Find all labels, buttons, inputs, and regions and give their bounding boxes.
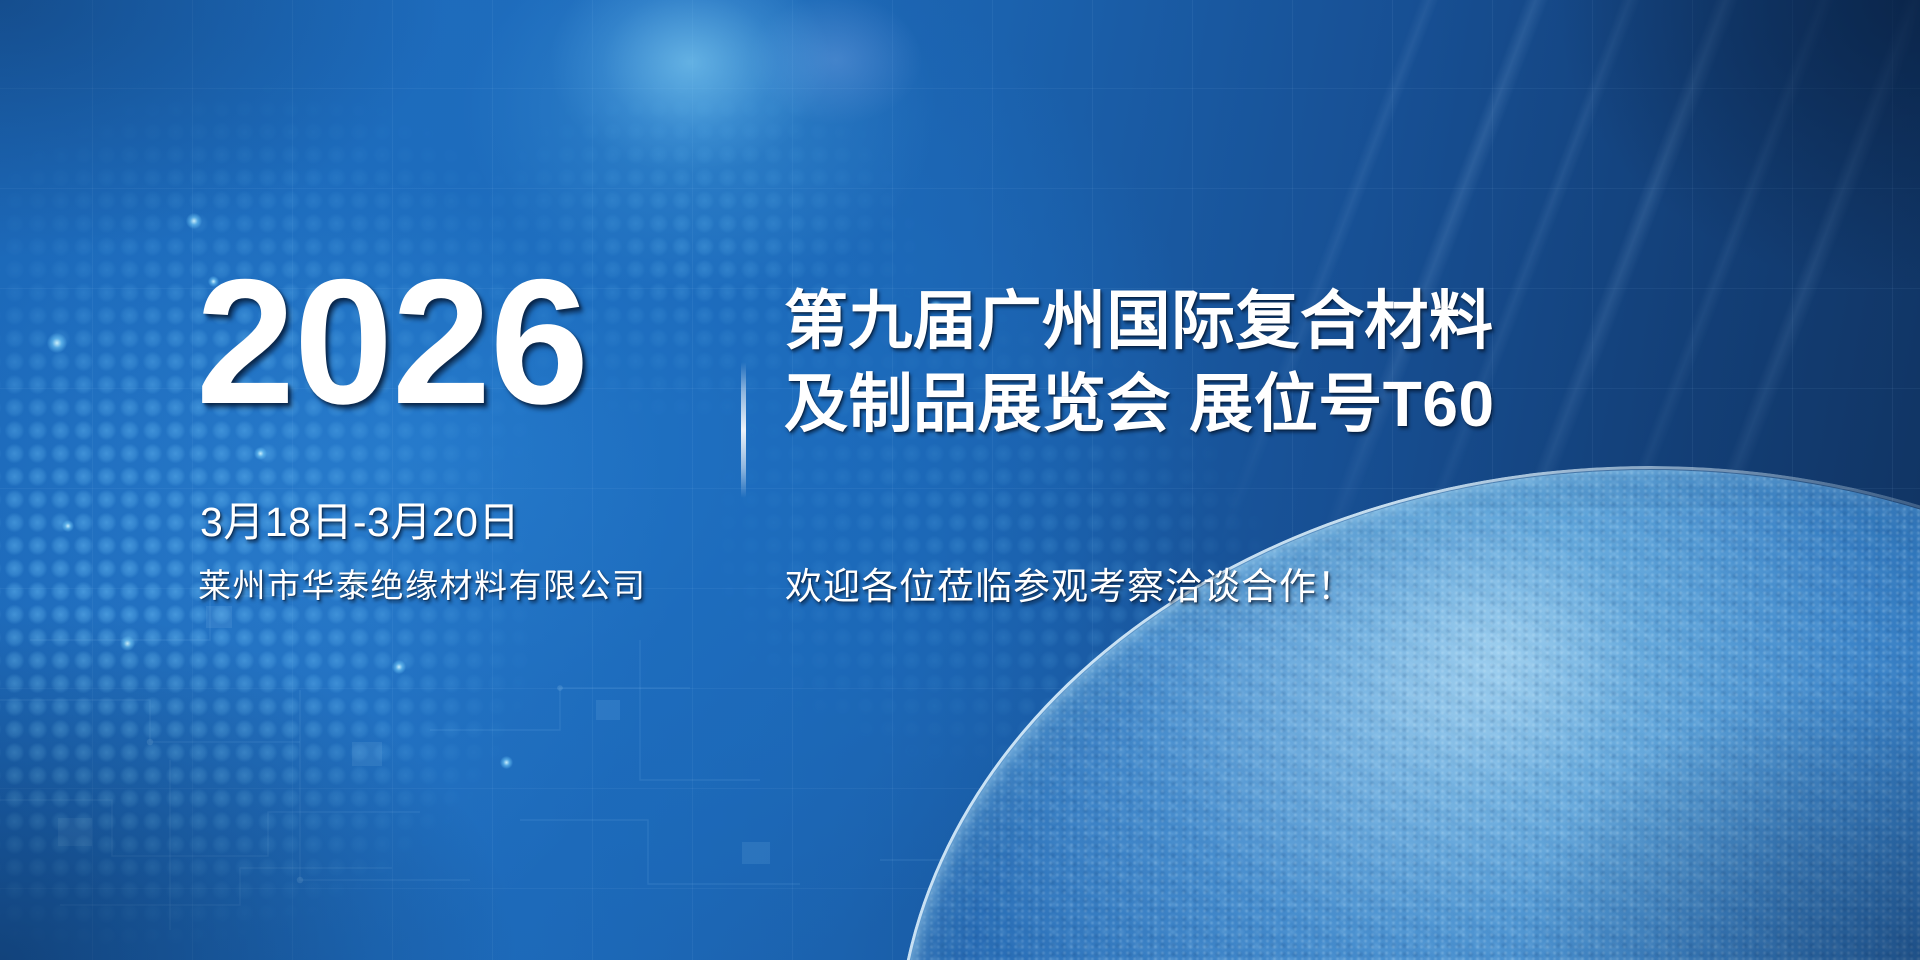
event-headline: 第九届广州国际复合材料 及制品展览会 展位号T60 bbox=[784, 280, 1495, 446]
year-heading: 2026 bbox=[196, 253, 588, 431]
welcome-message: 欢迎各位莅临参观考察洽谈合作！ bbox=[785, 565, 1355, 609]
banner-content: 2026 3月18日-3月20日 莱州市华泰绝缘材料有限公司 第九届广州国际复合… bbox=[0, 0, 1920, 960]
company-name: 莱州市华泰绝缘材料有限公司 bbox=[198, 567, 647, 605]
event-headline-line-1: 第九届广州国际复合材料 bbox=[784, 280, 1495, 363]
event-headline-line-2: 及制品展览会 展位号T60 bbox=[784, 363, 1495, 446]
exhibition-banner: 2026 3月18日-3月20日 莱州市华泰绝缘材料有限公司 第九届广州国际复合… bbox=[0, 0, 1920, 960]
date-range: 3月18日-3月20日 bbox=[200, 500, 520, 545]
vertical-divider bbox=[741, 362, 746, 498]
